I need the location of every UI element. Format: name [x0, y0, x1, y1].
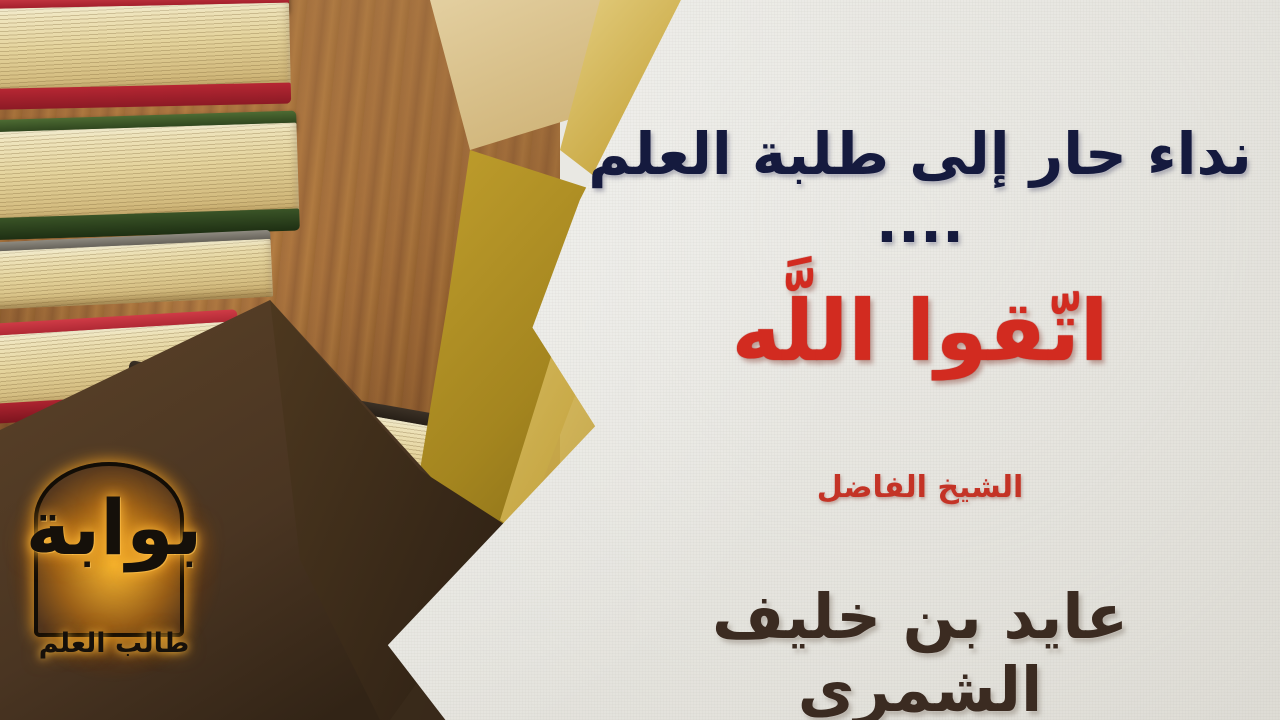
headline-text: نداء حار إلى طلبة العلم .... — [580, 120, 1260, 256]
sheikh-label: الشيخ الفاضل — [580, 470, 1260, 505]
channel-logo: بوابة طالب العلم — [8, 452, 220, 702]
speaker-name: عايد بن خليف الشمري — [580, 580, 1260, 720]
logo-wordmark: بوابة — [8, 490, 220, 566]
thumbnail-canvas: نداء حار إلى طلبة العلم .... اتّقوا اللَ… — [0, 0, 1280, 720]
text-column: نداء حار إلى طلبة العلم .... اتّقوا اللَ… — [560, 0, 1280, 720]
logo-subtitle: طالب العلم — [8, 628, 220, 659]
takeaway-text: اتّقوا اللَّه — [580, 282, 1260, 380]
